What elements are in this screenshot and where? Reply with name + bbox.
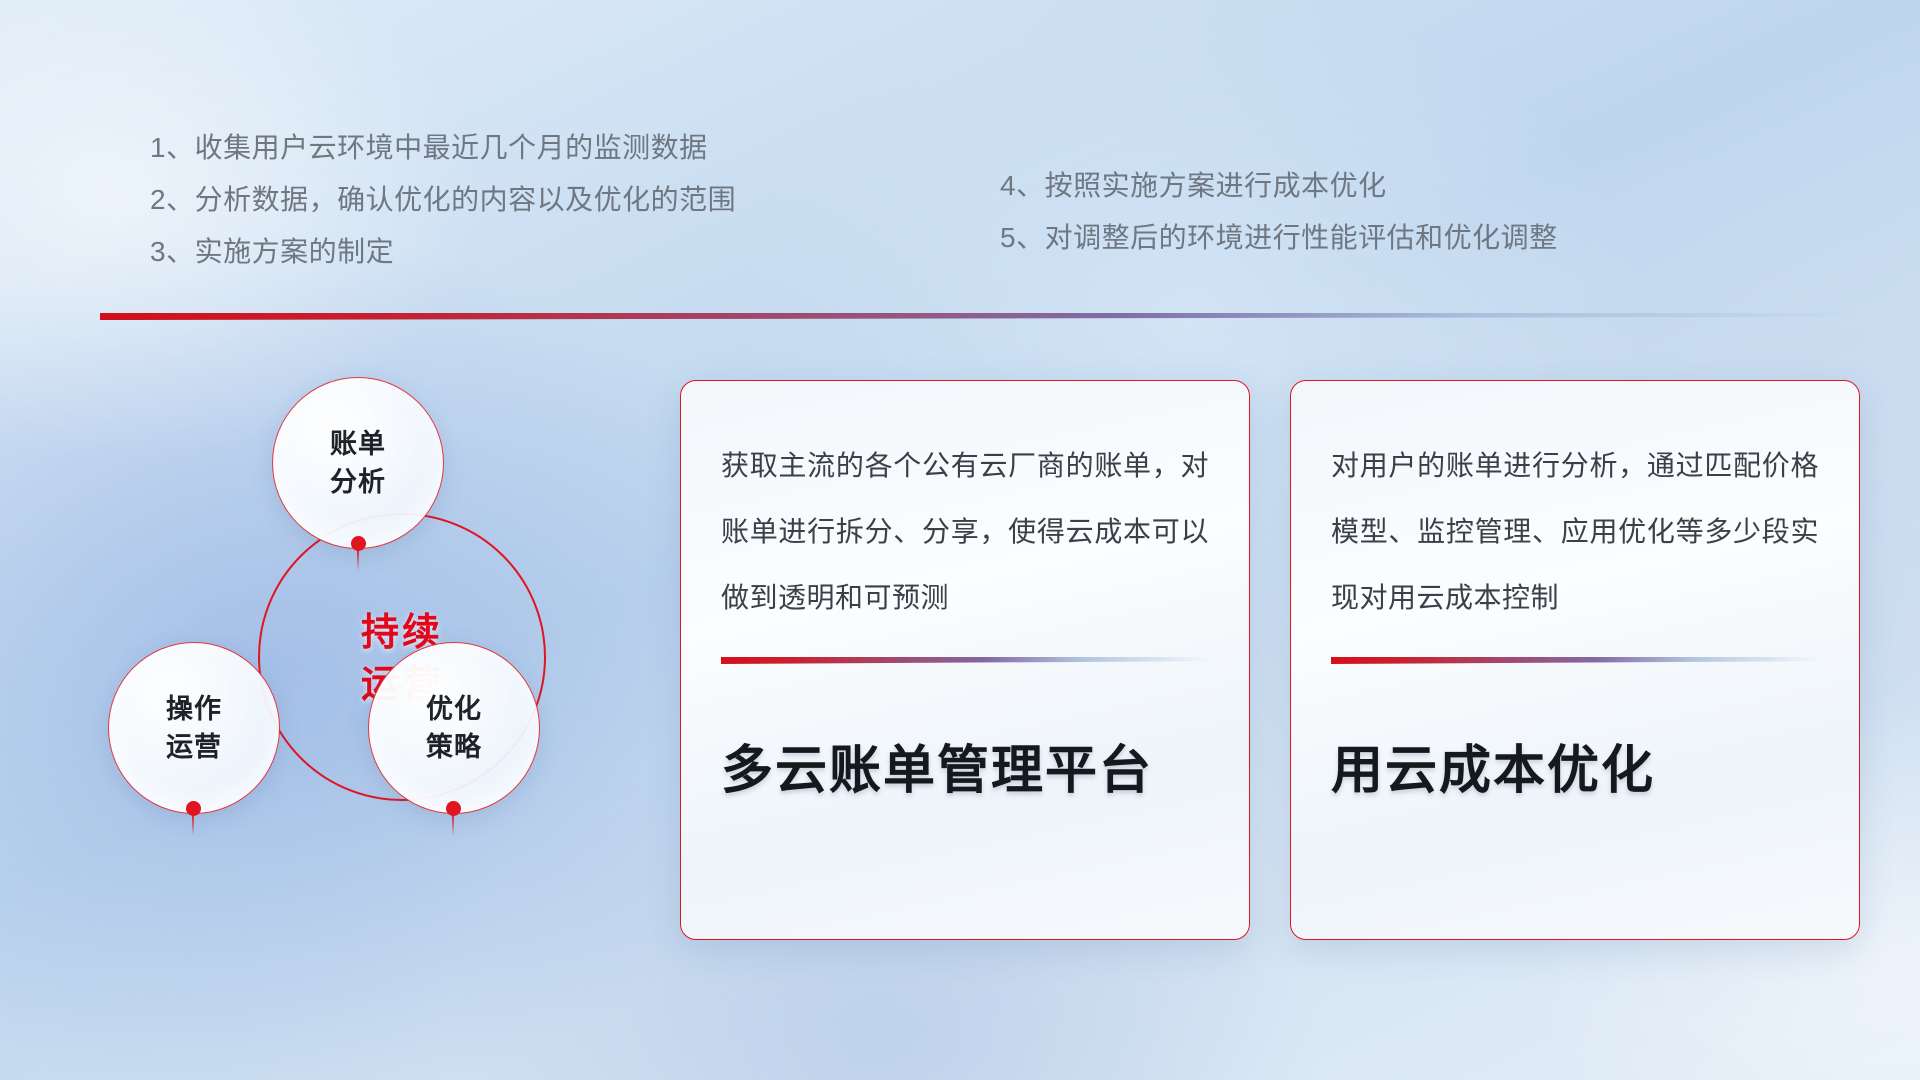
bubble-label-line2: 分析: [330, 463, 386, 501]
node-tail-icon: [192, 814, 194, 836]
list-item: 3、实施方案的制定: [150, 226, 736, 278]
bubble-label-line1: 优化: [426, 690, 482, 728]
bubble-label-line2: 策略: [426, 728, 482, 766]
bubble-label-line1: 账单: [330, 425, 386, 463]
card-divider: [721, 657, 1211, 664]
list-item: 4、按照实施方案进行成本优化: [1000, 160, 1558, 212]
bubble-operation[interactable]: 操作 运营: [108, 642, 280, 814]
list-item: 5、对调整后的环境进行性能评估和优化调整: [1000, 212, 1558, 264]
slide-canvas: 1、收集用户云环境中最近几个月的监测数据 2、分析数据，确认优化的内容以及优化的…: [0, 0, 1920, 1080]
card-title: 多云账单管理平台: [721, 728, 1209, 803]
node-tail-icon: [452, 814, 454, 836]
card-multicloud-billing-platform[interactable]: 获取主流的各个公有云厂商的账单，对账单进行拆分、分享，使得云成本可以做到透明和可…: [680, 380, 1250, 940]
section-divider: [100, 313, 1860, 320]
bubble-optimization-strategy[interactable]: 优化 策略: [368, 642, 540, 814]
card-divider: [1331, 657, 1821, 664]
node-tail-icon: [357, 549, 359, 571]
list-item: 1、收集用户云环境中最近几个月的监测数据: [150, 122, 736, 174]
card-body-text: 获取主流的各个公有云厂商的账单，对账单进行拆分、分享，使得云成本可以做到透明和可…: [721, 433, 1209, 631]
process-list-left: 1、收集用户云环境中最近几个月的监测数据 2、分析数据，确认优化的内容以及优化的…: [150, 122, 736, 278]
continuous-operation-diagram: 持续 运营 账单 分析 操作 运营 优化 策略: [90, 355, 650, 935]
card-title: 用云成本优化: [1331, 728, 1819, 803]
bubble-bill-analysis[interactable]: 账单 分析: [272, 377, 444, 549]
card-body-text: 对用户的账单进行分析，通过匹配价格模型、监控管理、应用优化等多少段实现对用云成本…: [1331, 433, 1819, 631]
process-list-right: 4、按照实施方案进行成本优化 5、对调整后的环境进行性能评估和优化调整: [1000, 160, 1558, 264]
bubble-label-line2: 运营: [166, 728, 222, 766]
card-cloud-cost-optimization[interactable]: 对用户的账单进行分析，通过匹配价格模型、监控管理、应用优化等多少段实现对用云成本…: [1290, 380, 1860, 940]
list-item: 2、分析数据，确认优化的内容以及优化的范围: [150, 174, 736, 226]
bubble-label-line1: 操作: [166, 690, 222, 728]
